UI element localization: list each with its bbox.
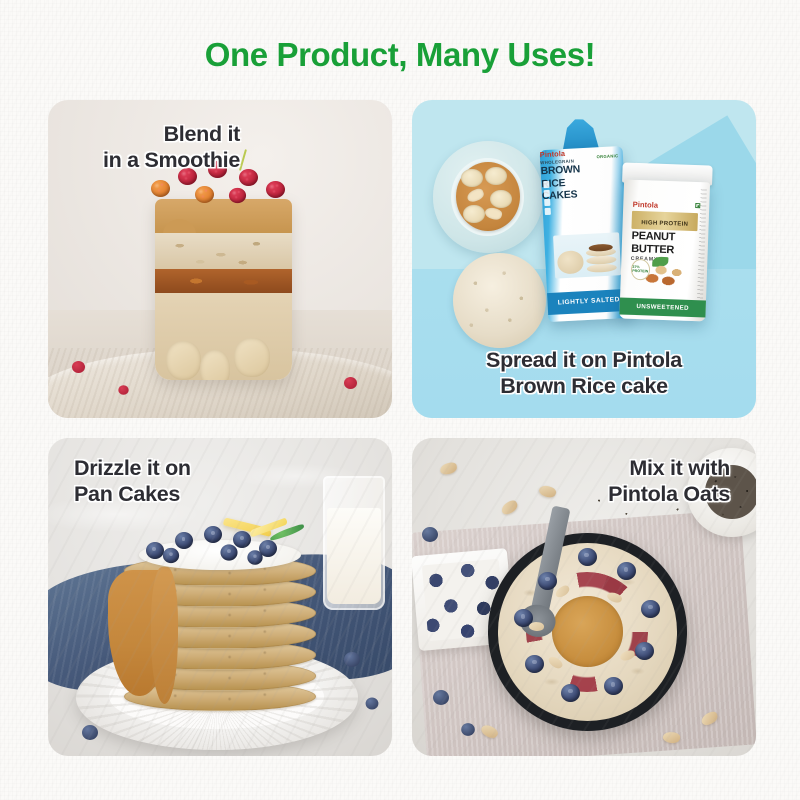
blueberry [175,532,193,549]
loose-blueberry [433,690,449,705]
blueberry [259,540,277,557]
cashew-nut [466,187,486,203]
caption-line-2: Brown Rice cake [412,374,756,400]
mint-leaf [268,523,304,540]
jar-variant-text: UNSWEETENED [636,302,689,311]
banana-slice [485,167,507,185]
jar-variant-band: UNSWEETENED [619,297,706,317]
banana-slice [234,338,270,377]
raspberry [229,188,246,203]
almond-flake [606,590,623,604]
blueberry [163,548,179,563]
card-caption: Blend it in a Smoothie [103,122,240,174]
lemon-slice [249,517,288,537]
jar-body: Pintola HIGH PROTEIN PEANUT BUTTER CREAM… [619,179,710,321]
almond-flake [547,654,564,671]
use-card-blend-smoothie[interactable]: Blend it in a Smoothie [48,100,392,418]
pack-body: ORGANIC Pintola WHOLEGRAIN BROWN RICE CA… [540,146,631,322]
almond [662,731,681,745]
pack-variant-band: LIGHTLY SALTED [547,288,631,315]
pancake [124,577,317,607]
berry-jam-layer [155,269,293,293]
card-caption: Spread it on Pintola Brown Rice cake [412,348,756,400]
organic-badge: ORGANIC [597,153,619,159]
pack-variant-text: LIGHTLY SALTED [558,296,620,306]
pack-photo-cake [557,250,585,274]
banana-slice [166,341,202,380]
plate-inner [109,664,323,729]
blueberry [578,548,597,566]
blueberry-topping [139,525,301,567]
jar-name-line-2: BUTTER [631,243,697,256]
almond [538,483,558,500]
pack-name-line-3: CAKES [542,188,625,203]
blueberry [525,655,544,673]
lemon-slice [223,517,272,537]
loose-blueberry [366,698,379,710]
banana-slice [200,350,230,380]
raspberry [239,169,258,186]
pancake [124,598,317,628]
jar-name-line-1: PEANUT [631,230,697,243]
almond-flake [528,621,544,632]
pancake [124,682,317,712]
jar-claim-band: HIGH PROTEIN [632,210,698,230]
blueberry [617,562,636,580]
almond-flake [619,650,636,663]
serving-plate [433,141,543,252]
use-card-mix-oats[interactable]: Mix it with Pintola Oats [412,438,756,756]
blueberry [561,684,580,702]
oatmeal-bowl [488,533,688,730]
caption-line-1: Drizzle it on [74,456,191,482]
brown-rice-cakes-pack: ORGANIC Pintola WHOLEGRAIN BROWN RICE CA… [540,146,631,322]
blueberry [247,550,262,564]
banana-slice [461,169,483,187]
banana-slice [490,190,512,208]
pancake [124,640,317,670]
blueberry-ring [506,551,670,713]
banana-slice [463,205,485,223]
loose-blueberry [422,527,438,542]
raspberry [266,181,285,198]
side-bowl-inner [422,559,505,642]
blueberry [233,531,251,548]
white-plate [76,645,358,750]
loose-raspberry [118,385,128,395]
peanut-butter-jar: Pintola HIGH PROTEIN PEANUT BUTTER CREAM… [619,162,710,321]
smoothie-jar [155,199,293,380]
pack-photo-disc [587,263,618,273]
raspberry [195,186,214,203]
caption-line-1: Mix it with [608,456,730,482]
packshot-scene: ORGANIC Pintola WHOLEGRAIN BROWN RICE CA… [412,100,756,418]
blueberry-side-bowl [412,548,516,651]
caption-line-2: Pintola Oats [608,482,730,508]
card-caption: Drizzle it on Pan Cakes [74,456,191,508]
blueberry [604,677,623,695]
pancake [124,619,317,649]
uses-grid: Blend it in a Smoothie [48,100,752,756]
yogurt-dollop [139,540,301,571]
oats-scene: Mix it with Pintola Oats [412,438,756,756]
jar-label: Pintola HIGH PROTEIN PEANUT BUTTER CREAM… [631,199,698,263]
caption-line-1: Spread it on Pintola [412,348,756,374]
loose-blueberry [461,723,475,736]
almond-flake [553,584,570,599]
card-caption: Mix it with Pintola Oats [608,456,730,508]
almond [439,462,458,476]
loose-blueberry [82,725,98,740]
milk-glass [323,476,385,610]
blueberry [641,600,660,618]
pack-product-photo [554,232,622,278]
page-title: One Product, Many Uses! [0,36,800,74]
granola-layer [155,233,293,269]
pancake [124,556,317,586]
pack-photo-stack [586,238,618,273]
peanut-butter-drizzle [108,570,170,696]
caption-line-2: in a Smoothie [103,148,240,174]
smoothie-scene: Blend it in a Smoothie [48,100,392,418]
raspberry [151,180,170,197]
peanut-butter-drizzle [151,567,178,704]
jar-brand: Pintola [632,199,698,210]
blueberry [220,545,237,561]
topped-rice-cake [456,162,520,231]
pancake-stack [124,521,317,712]
plain-rice-cake [453,253,546,348]
blueberry [146,542,164,559]
use-card-drizzle-pancakes[interactable]: Drizzle it on Pan Cakes [48,438,392,756]
loose-blueberry [344,652,360,667]
caption-line-1: Blend it [103,122,240,148]
cashew-nut [484,206,503,222]
almond [500,498,520,516]
jar-claim-text: HIGH PROTEIN [641,219,688,227]
almond [479,722,499,741]
caption-line-2: Pan Cakes [74,482,191,508]
use-card-spread-rice-cake[interactable]: ORGANIC Pintola WHOLEGRAIN BROWN RICE CA… [412,100,756,418]
blueberry [635,642,654,660]
blue-napkin [48,549,392,695]
pancake [124,661,317,691]
blueberry [538,572,557,590]
cream-layer [155,293,293,380]
pancake-scene: Drizzle it on Pan Cakes [48,438,392,756]
almond [699,710,719,727]
jar-protein-badge: 37% PROTEIN [631,259,651,280]
leaf-icon [652,256,668,267]
blueberry [204,526,222,543]
